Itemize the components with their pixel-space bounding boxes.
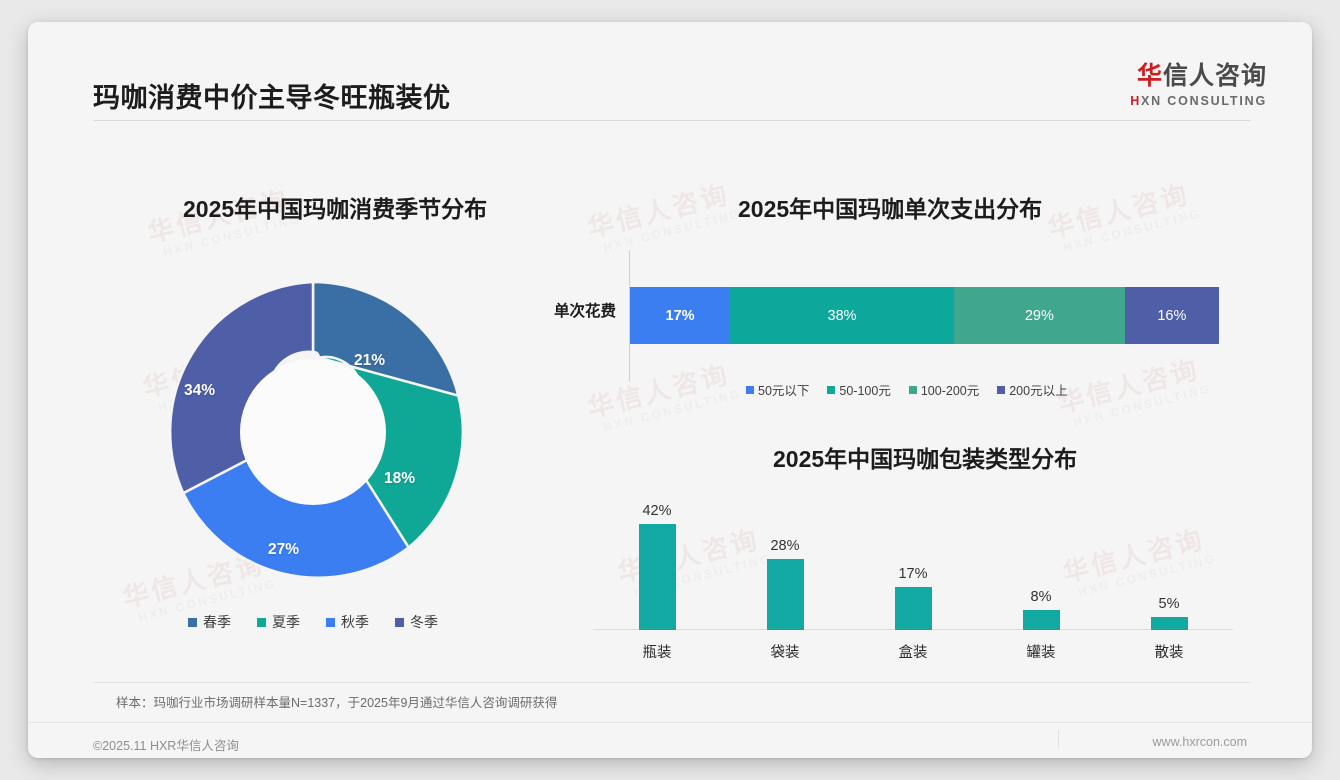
column-bar-bottle[interactable] — [639, 524, 676, 630]
stacked-segment-tier2[interactable]: 38% — [730, 287, 954, 344]
legend-swatch-icon — [188, 618, 197, 627]
chart-title-packaging: 2025年中国玛咖包装类型分布 — [773, 440, 1077, 474]
column-group[interactable]: 28% — [721, 538, 849, 630]
logo-english-accent: H — [1130, 94, 1141, 108]
column-group[interactable]: 8% — [977, 589, 1105, 630]
legend-label-spring: 春季 — [203, 612, 231, 632]
chart-title-spend: 2025年中国玛咖单次支出分布 — [738, 190, 1042, 224]
donut-value-winter: 34% — [184, 382, 215, 400]
column-label-bulk: 散装 — [1105, 641, 1233, 662]
legend-swatch-icon — [997, 386, 1005, 394]
donut-graphic: 21% 18% 27% 34% — [158, 277, 468, 587]
donut-value-spring: 21% — [354, 352, 385, 370]
stacked-segment-tier1[interactable]: 17% — [630, 287, 730, 344]
legend-item-autumn[interactable]: 秋季 — [326, 612, 369, 632]
slide-header: 玛咖消费中价主导冬旺瓶装优 华信人咨询 HXN CONSULTING — [28, 22, 1312, 120]
legend-swatch-icon — [909, 386, 917, 394]
logo-english-rest: XN CONSULTING — [1141, 94, 1267, 108]
page-title: 玛咖消费中价主导冬旺瓶装优 — [93, 76, 451, 115]
legend-label-tier4: 200元以上 — [1009, 380, 1067, 399]
legend-label-tier2: 50-100元 — [839, 380, 890, 399]
header-divider — [93, 120, 1251, 121]
legend-item-tier2[interactable]: 50-100元 — [827, 380, 890, 399]
column-value-box: 17% — [898, 566, 927, 582]
legend-swatch-icon — [257, 618, 266, 627]
season-distribution-chart: 2025年中国玛咖消费季节分布 21% 18% 27% 34% 春季 — [73, 142, 543, 662]
legend-swatch-icon — [827, 386, 835, 394]
column-value-bulk: 5% — [1159, 596, 1180, 612]
packaging-type-distribution-chart: 2025年中国玛咖包装类型分布 42% 瓶装 28% 袋装 17% 盒装 8% — [528, 422, 1268, 692]
brand-logo: 华信人咨询 HXN CONSULTING — [1130, 62, 1267, 108]
donut-value-autumn: 27% — [268, 541, 299, 559]
footnote-divider — [93, 682, 1251, 683]
legend-label-tier3: 100-200元 — [921, 380, 979, 399]
stacked-segment-tier4[interactable]: 16% — [1125, 287, 1219, 344]
logo-chinese: 华信人咨询 — [1130, 62, 1267, 91]
slide-card: 华信人咨询 HXN CONSULTING 华信人咨询 HXN CONSULTIN… — [28, 22, 1312, 758]
legend-label-autumn: 秋季 — [341, 612, 369, 632]
stacked-category-label: 单次花费 — [528, 299, 616, 321]
legend-item-spring[interactable]: 春季 — [188, 612, 231, 632]
column-label-box: 盒装 — [849, 641, 977, 662]
column-label-bottle: 瓶装 — [593, 641, 721, 662]
legend-spend-tiers: 50元以下 50-100元 100-200元 200元以上 — [746, 380, 1068, 399]
stacked-segment-tier3[interactable]: 29% — [954, 287, 1125, 344]
logo-chinese-accent: 华 — [1137, 62, 1163, 90]
column-group[interactable]: 5% — [1105, 596, 1233, 630]
column-bar-can[interactable] — [1023, 610, 1060, 630]
logo-english: HXN CONSULTING — [1130, 94, 1267, 108]
column-plot-area: 42% 瓶装 28% 袋装 17% 盒装 8% 罐装 5% — [593, 502, 1233, 662]
legend-item-winter[interactable]: 冬季 — [395, 612, 438, 632]
column-bar-bulk[interactable] — [1151, 617, 1188, 630]
legend-label-winter: 冬季 — [410, 612, 438, 632]
logo-chinese-rest: 信人咨询 — [1163, 62, 1267, 90]
column-value-bottle: 42% — [642, 503, 671, 519]
column-label-bag: 袋装 — [721, 641, 849, 662]
legend-item-summer[interactable]: 夏季 — [257, 612, 300, 632]
sample-footnote: 样本：玛咖行业市场调研样本量N=1337，于2025年9月通过华信人咨询调研获得 — [116, 692, 557, 711]
legend-season: 春季 夏季 秋季 冬季 — [188, 612, 438, 632]
legend-item-tier3[interactable]: 100-200元 — [909, 380, 979, 399]
legend-item-tier4[interactable]: 200元以上 — [997, 380, 1067, 399]
single-spend-distribution-chart: 2025年中国玛咖单次支出分布 单次花费 17% 38% 29% 16% 50元… — [528, 142, 1268, 422]
legend-swatch-icon — [746, 386, 754, 394]
column-group[interactable]: 17% — [849, 566, 977, 630]
donut-value-summer: 18% — [384, 470, 415, 488]
footer-separator — [1058, 730, 1059, 748]
legend-label-tier1: 50元以下 — [758, 380, 809, 399]
stacked-bar: 17% 38% 29% 16% — [630, 287, 1219, 344]
column-group[interactable]: 42% — [593, 503, 721, 630]
legend-label-summer: 夏季 — [272, 612, 300, 632]
legend-swatch-icon — [326, 618, 335, 627]
footer-divider — [28, 722, 1312, 723]
chart-title-season: 2025年中国玛咖消费季节分布 — [183, 190, 487, 224]
column-bar-box[interactable] — [895, 587, 932, 630]
footer-copyright: ©2025.11 HXR华信人咨询 — [93, 735, 239, 754]
column-bar-bag[interactable] — [767, 559, 804, 630]
legend-item-tier1[interactable]: 50元以下 — [746, 380, 809, 399]
column-value-can: 8% — [1031, 589, 1052, 605]
column-label-can: 罐装 — [977, 641, 1105, 662]
footer-website[interactable]: www.hxrcon.com — [1153, 735, 1247, 749]
donut-svg — [158, 277, 468, 587]
donut-hole — [240, 359, 386, 505]
legend-swatch-icon — [395, 618, 404, 627]
column-value-bag: 28% — [770, 538, 799, 554]
